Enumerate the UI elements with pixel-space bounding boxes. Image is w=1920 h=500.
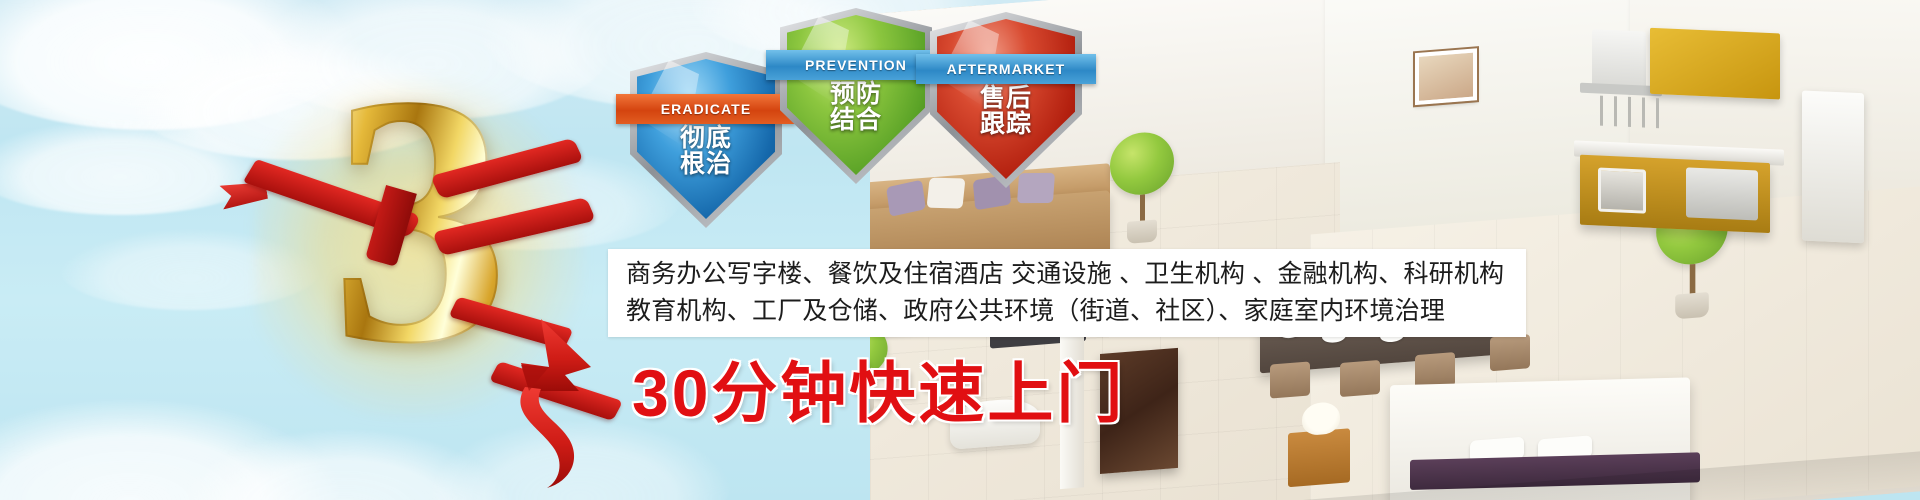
kitchen-area bbox=[1590, 0, 1920, 300]
service-scope-line-1: 商务办公写字楼、餐饮及住宿酒店 交通设施 、卫生机构 、金融机构、科研机构 bbox=[626, 256, 1526, 294]
shield-label-cn-line2: 跟踪 bbox=[930, 112, 1082, 138]
shield-label-cn-line2: 结合 bbox=[780, 108, 932, 134]
shield-badge-eradicate[interactable]: 彻底 根治 ERADICATE bbox=[630, 52, 782, 228]
portrait-painting-icon bbox=[1415, 48, 1477, 105]
upper-cabinet bbox=[1650, 28, 1780, 100]
shield-label-cn: 售后 跟踪 bbox=[930, 86, 1082, 137]
shield-label-cn-line1: 售后 bbox=[930, 86, 1082, 112]
dining-chair bbox=[1490, 334, 1530, 371]
shield-label-cn-line2: 根治 bbox=[630, 152, 782, 178]
shield-badge-aftermarket[interactable]: 售后 跟踪 AFTERMARKET bbox=[930, 12, 1082, 188]
sink-icon bbox=[1686, 167, 1758, 220]
shield-label-cn-line1: 预防 bbox=[780, 82, 932, 108]
page-title: 30分钟快速上门 bbox=[632, 340, 1125, 436]
shield-label-en: ERADICATE bbox=[616, 94, 796, 124]
service-scope-box: 商务办公写字楼、餐饮及住宿酒店 交通设施 、卫生机构 、金融机构、科研机构 教育… bbox=[608, 249, 1526, 337]
service-scope-line-2: 教育机构、工厂及仓储、政府公共环境（街道、社区）、家庭室内环境治理 bbox=[626, 293, 1526, 331]
nightstand bbox=[1288, 428, 1350, 487]
oven-icon bbox=[1598, 168, 1646, 214]
shield-badge-prevention[interactable]: 预防 结合 PREVENTION bbox=[780, 8, 932, 184]
shield-label-cn-line1: 彻底 bbox=[630, 126, 782, 152]
hanging-utensils-icon bbox=[1600, 96, 1662, 129]
shield-label-cn: 彻底 根治 bbox=[630, 126, 782, 177]
dining-chair bbox=[1340, 360, 1380, 397]
shield-badge-group: 彻底 根治 ERADICATE 预防 结合 PREVENTION 售后 跟踪 A… bbox=[630, 8, 1200, 223]
dining-chair bbox=[1270, 361, 1310, 398]
shield-label-en: AFTERMARKET bbox=[916, 54, 1096, 84]
shield-label-cn: 预防 结合 bbox=[780, 82, 932, 133]
range-hood-icon bbox=[1592, 29, 1646, 89]
refrigerator-icon bbox=[1802, 90, 1864, 243]
promotional-banner: 3 彻底 bbox=[0, 0, 1920, 500]
